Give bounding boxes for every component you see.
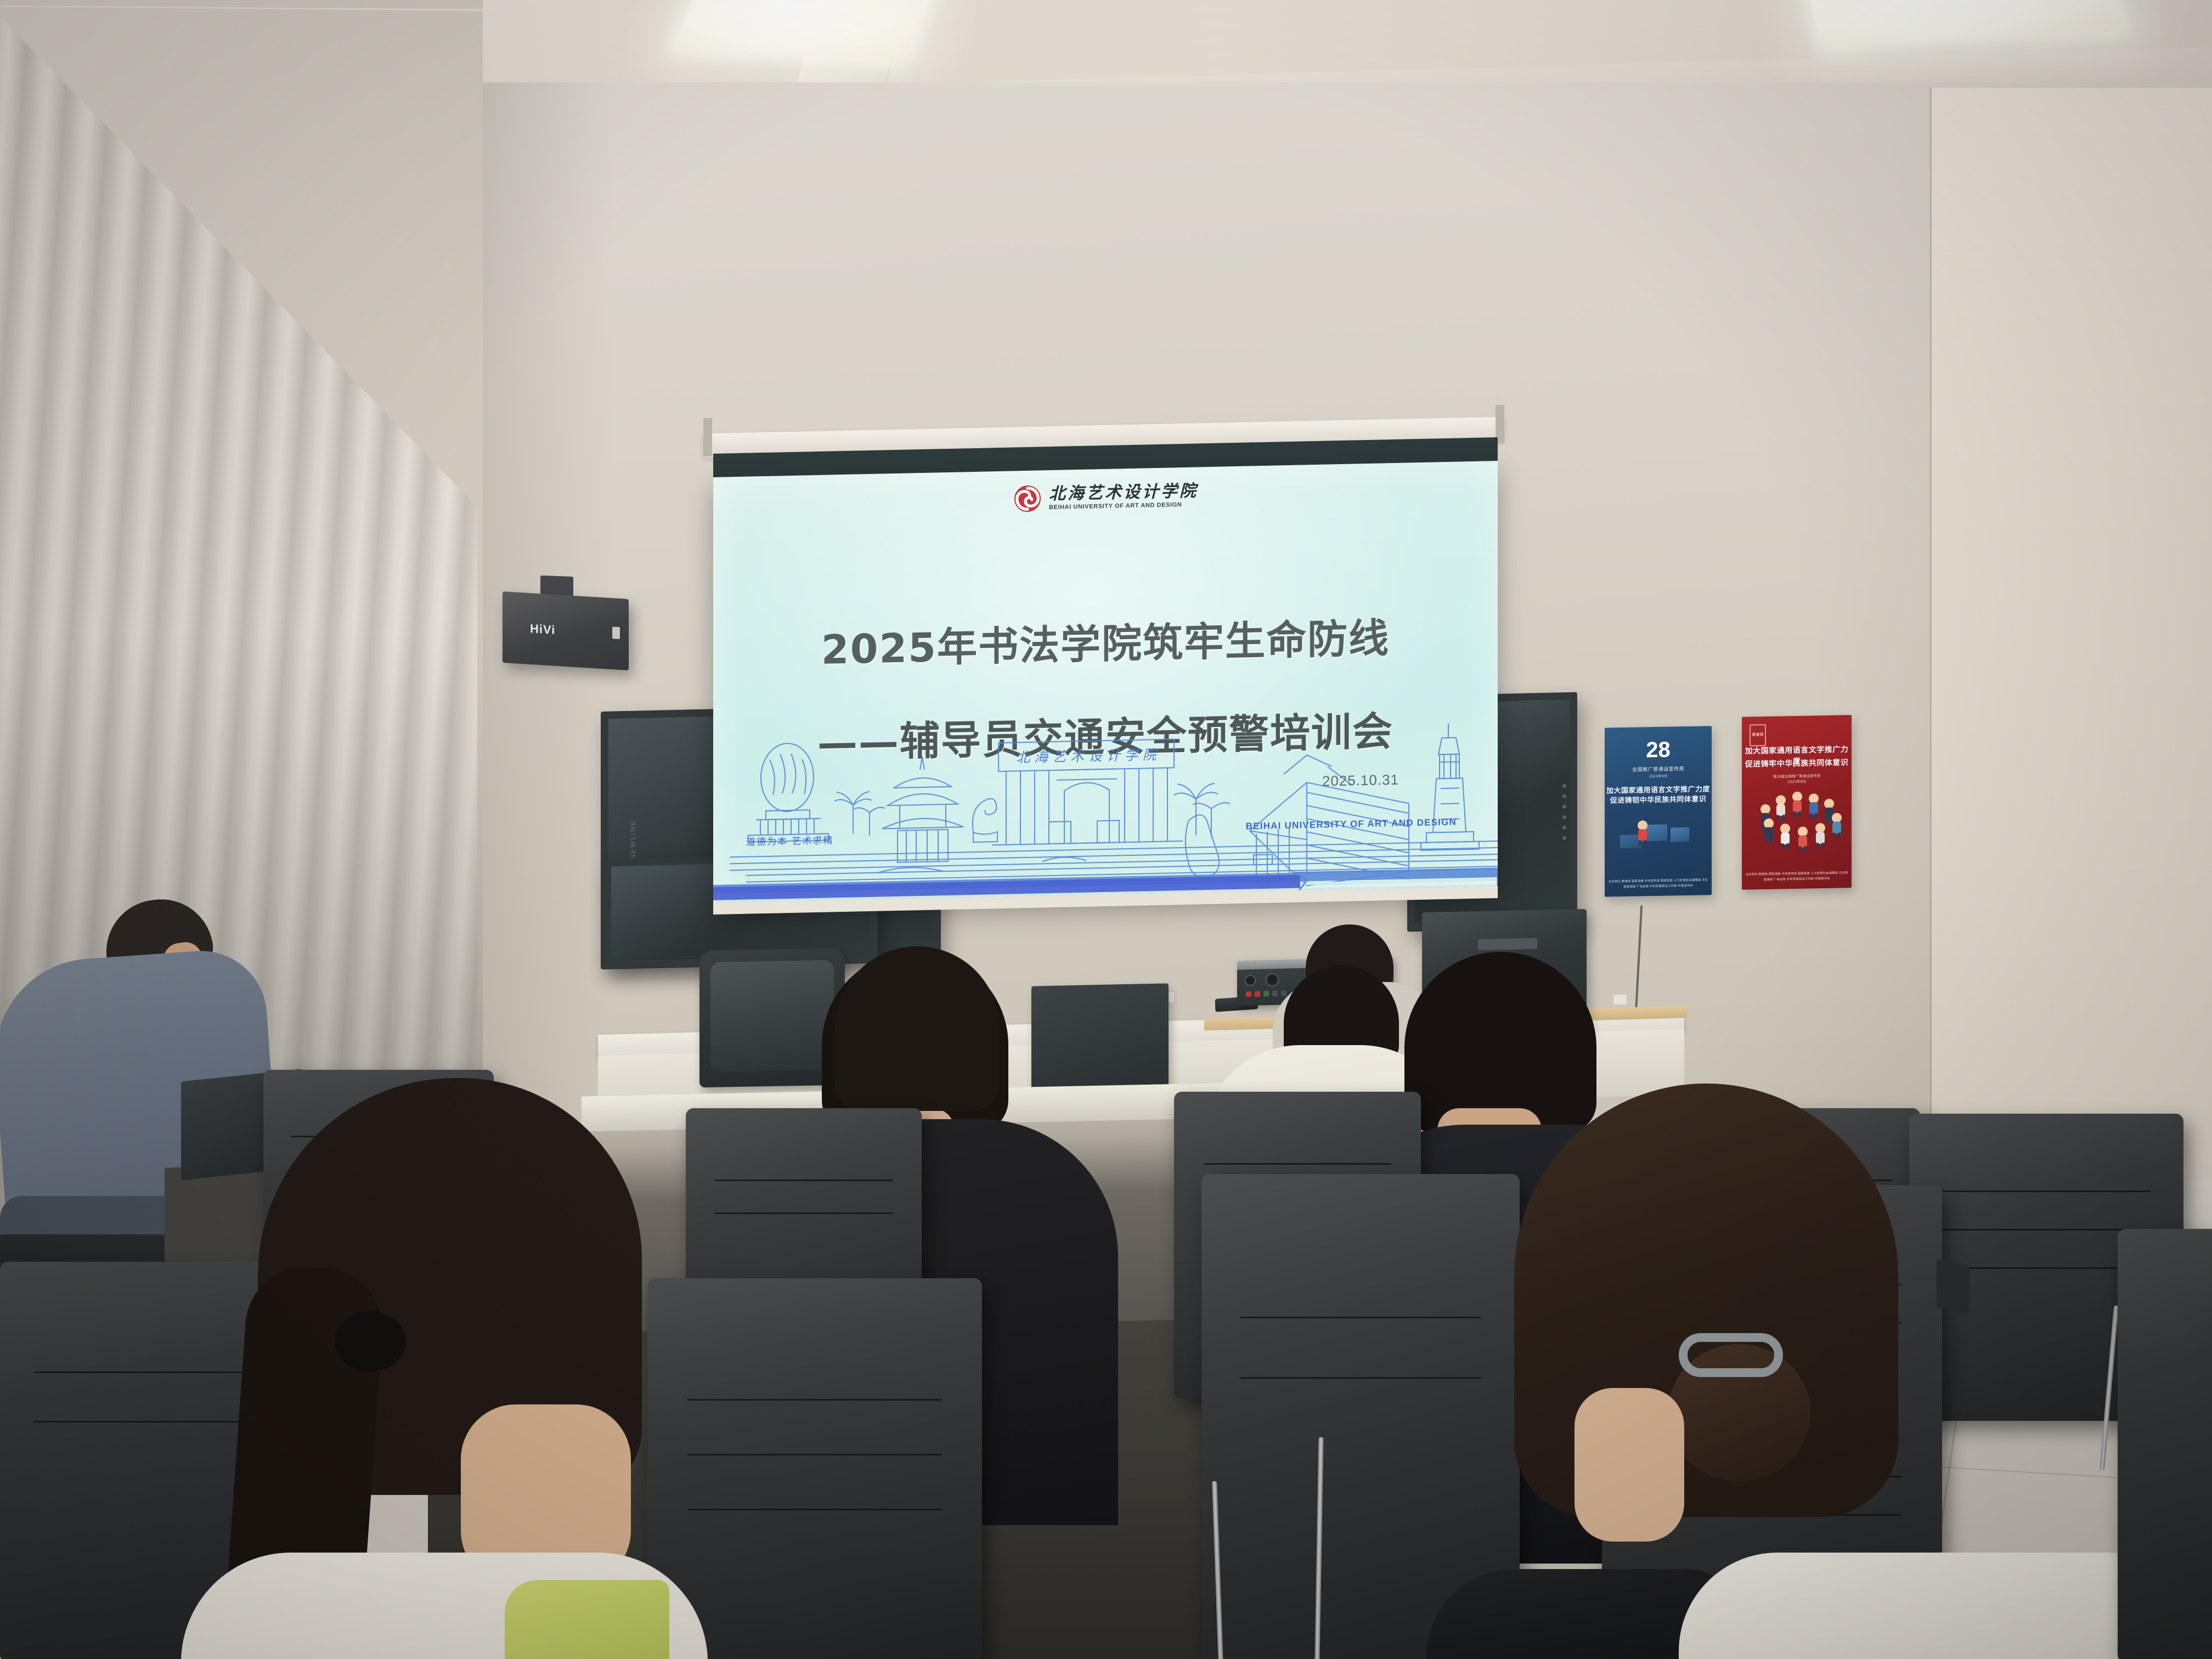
poster-slogan-line2: 促进铸牢中华民族共同体意识 [1742, 757, 1852, 769]
hair-tie [1679, 1333, 1783, 1377]
display-brand-icon: NEWLINE [629, 820, 637, 860]
monitor-bezel-strip [1478, 938, 1537, 950]
mixer-button[interactable] [1272, 991, 1278, 996]
logo-chinese-name: 北海艺术设计学院 [1049, 483, 1198, 503]
torso-shirt [1679, 1553, 2172, 1659]
poster-putonghua-blue: 28 全国推广普通话宣传周 2025年9月 加大国家通用语言文字推广力度 促进铸… [1605, 726, 1712, 896]
campus-skyline-illustration: 北 海 艺 术 设 计 学 院 [713, 710, 1498, 908]
right-wall-panel [1931, 88, 2212, 1190]
poster-number: 28 [1646, 739, 1671, 761]
poster-slogan-line2: 促进铸铠中华民族共同体意识 [1605, 793, 1712, 805]
wall-corner-edge [1930, 88, 1932, 1190]
svg-text:北 海 艺 术 设 计 学 院: 北 海 艺 术 设 计 学 院 [1016, 747, 1159, 765]
face-side [1575, 1388, 1684, 1542]
poster-year-note: 2025年9月 [1605, 772, 1712, 779]
chair-armrest [1937, 1259, 1970, 1315]
poster-organizers: 主办单位 教育部 国家语委 中央宣传部 国家民委 人力资源社会保障部 文化和旅游… [1608, 878, 1708, 890]
poster-putonghua-red: 推普周 加大国家通用语言文字推广力度 促进铸牢中华民族共同体意识 第28届全国推… [1742, 715, 1852, 889]
desktop-monitor-secondary[interactable] [1031, 983, 1169, 1093]
hair [835, 946, 1000, 1111]
auditorium-chair-front[interactable] [2118, 1229, 2212, 1659]
mixer-button[interactable] [1246, 991, 1251, 997]
auditorium-chair-front[interactable] [647, 1278, 982, 1659]
wall-socket [1613, 994, 1627, 1006]
mixer-button[interactable] [1263, 991, 1269, 996]
wall-speaker: HiVi [503, 591, 629, 670]
screen-bracket [703, 418, 712, 456]
projection-screen: 北海艺术设计学院 BEIHAI UNIVERSITY OF ART AND DE… [713, 461, 1498, 908]
speaker-port-icon [612, 627, 620, 639]
hair [1404, 952, 1596, 1133]
poster-badge: 推普周 [1750, 724, 1766, 747]
display-buttons[interactable] [1562, 784, 1566, 840]
mixer-button[interactable] [1255, 991, 1260, 997]
mixer-knob[interactable] [1245, 975, 1256, 986]
university-logo-icon [1013, 483, 1042, 513]
mixer-knob[interactable] [1266, 973, 1279, 987]
slide-motto: 道德为本 艺术求精 [746, 832, 833, 848]
slide-logo: 北海艺术设计学院 BEIHAI UNIVERSITY OF ART AND DE… [1013, 480, 1198, 513]
poster-sub-note: 第28届全国推广普通话宣传周 2025年9月 [1742, 772, 1852, 785]
ceiling-panel-light-icon [672, 0, 935, 59]
speaker-brand-label: HiVi [530, 622, 555, 637]
mixer-button[interactable] [1281, 990, 1286, 996]
collar-trim [505, 1580, 669, 1659]
hair-tie [335, 1311, 406, 1372]
poster-organizers: 主办单位 教育部 国家语委 中央宣传部 国家民委 人力资源社会保障部 文化和旅游… [1745, 871, 1848, 883]
classroom-photo: HiVi NEWLINE [0, 0, 2212, 1659]
